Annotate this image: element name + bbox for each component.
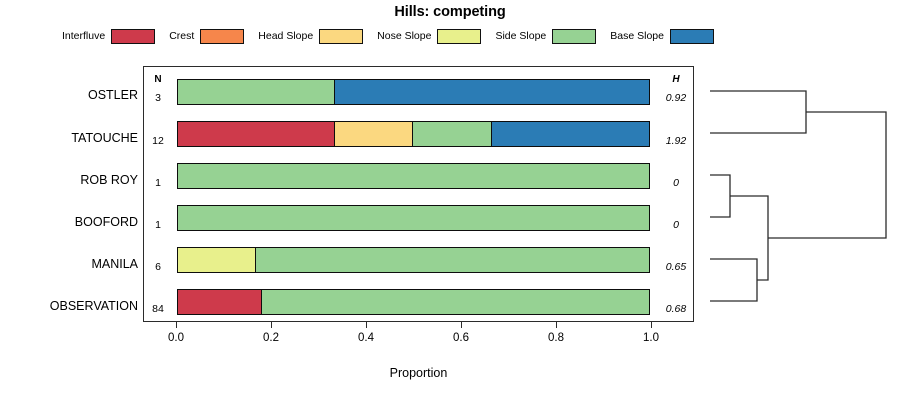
- bar-segment-side-slope[interactable]: [413, 122, 492, 146]
- column-header-h: H: [659, 74, 693, 85]
- y-axis-label-rob-roy: ROB ROY: [0, 173, 138, 187]
- x-axis-tick: [366, 322, 367, 328]
- y-axis-label-ostler: OSTLER: [0, 88, 138, 102]
- x-axis-ticklabel-2: 0.4: [343, 332, 389, 344]
- stacked-bar[interactable]: [177, 247, 650, 273]
- legend-item-base-slope[interactable]: Base Slope: [610, 29, 714, 44]
- bar-segment-nose-slope[interactable]: [178, 248, 257, 272]
- legend-swatch-crest: [200, 29, 244, 44]
- dendrogram-link-ostler-tatouche: [710, 91, 806, 133]
- legend-item-interfluve[interactable]: Interfluve: [62, 29, 155, 44]
- legend-item-side-slope[interactable]: Side Slope: [495, 29, 596, 44]
- x-axis-ticklabel-4: 0.8: [533, 332, 579, 344]
- x-axis-tick: [176, 322, 177, 328]
- legend-swatch-side-slope: [552, 29, 596, 44]
- y-axis-label-booford: BOOFORD: [0, 215, 138, 229]
- legend-item-nose-slope[interactable]: Nose Slope: [377, 29, 481, 44]
- page-title: Hills: competing: [0, 4, 900, 20]
- stacked-bar[interactable]: [177, 121, 650, 147]
- bar-segment-side-slope[interactable]: [256, 248, 649, 272]
- h-value-observation: 0.68: [659, 303, 693, 315]
- bar-segment-base-slope[interactable]: [492, 122, 649, 146]
- bar-segment-side-slope[interactable]: [262, 290, 649, 314]
- h-value-manila: 0.65: [659, 261, 693, 273]
- stacked-bar[interactable]: [177, 289, 650, 315]
- bar-segment-head-slope[interactable]: [335, 122, 414, 146]
- legend: Interfluve Crest Head Slope Nose Slope S…: [62, 26, 782, 46]
- n-value-manila: 6: [144, 261, 172, 273]
- legend-label: Side Slope: [495, 30, 546, 42]
- legend-swatch-interfluve: [111, 29, 155, 44]
- h-value-ostler: 0.92: [659, 92, 693, 104]
- bar-row-rob-roy: [144, 163, 693, 189]
- x-axis-tick: [556, 322, 557, 328]
- stacked-bar[interactable]: [177, 79, 650, 105]
- dendrogram: [700, 66, 896, 322]
- x-axis-ticklabel-0: 0.0: [153, 332, 199, 344]
- x-axis-tick: [461, 322, 462, 328]
- legend-label: Head Slope: [258, 30, 313, 42]
- h-value-booford: 0: [659, 219, 693, 231]
- legend-swatch-nose-slope: [437, 29, 481, 44]
- y-axis-label-tatouche: TATOUCHE: [0, 131, 138, 145]
- bar-segment-interfluve[interactable]: [178, 290, 262, 314]
- stacked-bar[interactable]: [177, 205, 650, 231]
- x-axis-title: Proportion: [143, 366, 694, 380]
- n-value-rob-roy: 1: [144, 177, 172, 189]
- stacked-bar[interactable]: [177, 163, 650, 189]
- bar-row-observation: [144, 289, 693, 315]
- x-axis-tick: [271, 322, 272, 328]
- plot-panel: [143, 66, 694, 322]
- legend-item-head-slope[interactable]: Head Slope: [258, 29, 363, 44]
- x-axis-ticklabel-5: 1.0: [628, 332, 674, 344]
- dendrogram-svg: [700, 66, 896, 322]
- legend-item-crest[interactable]: Crest: [169, 29, 244, 44]
- bar-row-ostler: [144, 79, 693, 105]
- legend-swatch-head-slope: [319, 29, 363, 44]
- dendrogram-links: [710, 91, 886, 301]
- n-value-ostler: 3: [144, 92, 172, 104]
- legend-label: Interfluve: [62, 30, 105, 42]
- dendrogram-link-lower-cluster: [730, 196, 768, 280]
- h-value-tatouche: 1.92: [659, 135, 693, 147]
- legend-label: Nose Slope: [377, 30, 431, 42]
- y-axis-label-observation: OBSERVATION: [0, 299, 138, 313]
- bar-segment-side-slope[interactable]: [178, 164, 649, 188]
- bar-row-tatouche: [144, 121, 693, 147]
- n-value-tatouche: 12: [144, 135, 172, 147]
- bar-segment-base-slope[interactable]: [335, 80, 649, 104]
- legend-label: Base Slope: [610, 30, 664, 42]
- dendrogram-link-root: [768, 112, 886, 238]
- n-value-booford: 1: [144, 219, 172, 231]
- x-axis-ticklabel-3: 0.6: [438, 332, 484, 344]
- x-axis-tick: [651, 322, 652, 328]
- dendrogram-link-manila-observation: [710, 259, 757, 301]
- bar-segment-side-slope[interactable]: [178, 80, 335, 104]
- bar-segment-interfluve[interactable]: [178, 122, 335, 146]
- figure-canvas: Hills: competing Interfluve Crest Head S…: [0, 0, 900, 400]
- bar-segment-side-slope[interactable]: [178, 206, 649, 230]
- h-value-rob-roy: 0: [659, 177, 693, 189]
- dendrogram-link-robroy-booford: [710, 175, 730, 217]
- y-axis-label-manila: MANILA: [0, 257, 138, 271]
- bar-row-booford: [144, 205, 693, 231]
- bar-row-manila: [144, 247, 693, 273]
- x-axis-ticklabel-1: 0.2: [248, 332, 294, 344]
- legend-swatch-base-slope: [670, 29, 714, 44]
- legend-label: Crest: [169, 30, 194, 42]
- n-value-observation: 84: [144, 303, 172, 315]
- column-header-n: N: [144, 74, 172, 85]
